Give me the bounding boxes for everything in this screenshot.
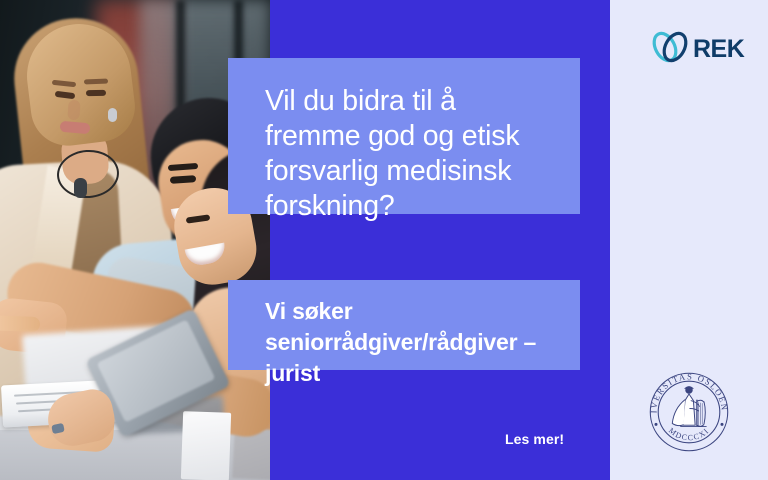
rek-logo[interactable]: REK <box>650 26 746 72</box>
white-binder <box>181 411 231 480</box>
job-title-text: Vi søker seniorrådgiver/rådgiver – juris… <box>265 296 558 389</box>
person-2-index-finger <box>0 315 40 332</box>
person-1-eyebrow <box>84 79 108 85</box>
person-1-eye <box>86 90 106 96</box>
headline-box: Vil du bidra til å fremme god og etisk f… <box>228 58 580 214</box>
person-1-pendant <box>74 178 87 198</box>
uio-seal-logo[interactable]: UNIVERSITAS OSLOENSIS MDCCCXI <box>645 368 733 456</box>
headline-text: Vil du bidra til å fremme god og etisk f… <box>265 84 558 224</box>
rek-recruitment-banner: Vil du bidra til å fremme god og etisk f… <box>0 0 768 480</box>
person-1-earring <box>108 108 117 122</box>
job-title-box: Vi søker seniorrådgiver/rådgiver – juris… <box>228 280 580 370</box>
read-more-link[interactable]: Les mer! <box>505 431 564 447</box>
rek-rings-icon <box>650 25 690 74</box>
person-1-nose <box>67 100 80 121</box>
uio-seal-year: MDCCCXI <box>667 426 711 442</box>
rek-wordmark: REK <box>693 37 744 62</box>
